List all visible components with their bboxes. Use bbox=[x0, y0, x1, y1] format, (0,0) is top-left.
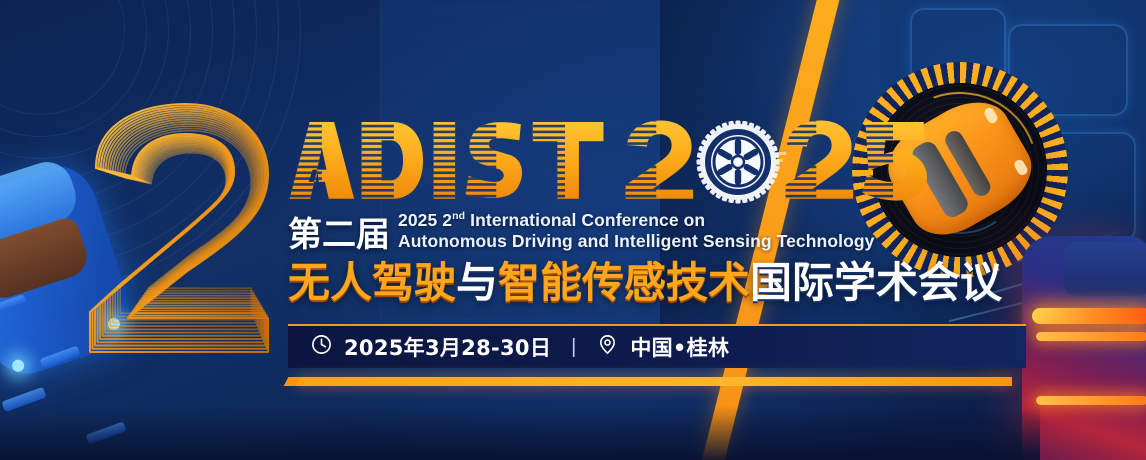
event-location: 中国•桂林 bbox=[630, 332, 729, 362]
watermark-number-2 bbox=[68, 96, 308, 361]
radar-arcs-decoration bbox=[0, 0, 320, 310]
english-title-line1: 2025 2nd International Conference on bbox=[398, 210, 875, 231]
info-separator: | bbox=[571, 336, 576, 359]
lane-dash bbox=[0, 294, 26, 315]
event-info-bar: 2025年3月28-30日 | 中国•桂林 bbox=[288, 324, 1026, 368]
orange-underline-bar bbox=[296, 377, 1012, 386]
title-block: 第二届 2025 2nd International Conference on… bbox=[288, 118, 1008, 306]
bottom-fade bbox=[0, 406, 1040, 460]
chinese-title-part3: 智能传感技术 bbox=[498, 258, 750, 307]
location-pin-icon bbox=[596, 333, 619, 361]
car-headlight-right bbox=[106, 316, 121, 331]
chinese-title: 无人驾驶与智能传感技术国际学术会议 bbox=[288, 259, 1008, 306]
edition-label: 第二届 bbox=[288, 218, 390, 252]
english-title: 2025 2nd International Conference on Aut… bbox=[398, 210, 875, 252]
lane-dash bbox=[39, 345, 80, 368]
conference-banner: 第二届 2025 2nd International Conference on… bbox=[0, 0, 1146, 460]
chinese-title-part1: 无人驾驶 bbox=[288, 258, 456, 307]
car-headlight-left bbox=[11, 358, 26, 373]
event-date: 2025年3月28-30日 bbox=[344, 332, 551, 362]
logo-wordmark bbox=[288, 118, 1008, 204]
car-roof bbox=[0, 155, 83, 252]
rear-bumper-light bbox=[1036, 396, 1146, 405]
subtitle-row: 第二届 2025 2nd International Conference on… bbox=[288, 210, 1008, 252]
car-windshield bbox=[0, 215, 92, 304]
chinese-title-part4: 国际学术会议 bbox=[750, 258, 1002, 307]
chinese-title-part2: 与 bbox=[456, 258, 498, 307]
rear-taillight-strip bbox=[1036, 332, 1146, 341]
rear-taillight-upper bbox=[1032, 308, 1146, 324]
english-title-line2: Autonomous Driving and Intelligent Sensi… bbox=[398, 231, 875, 252]
rear-car-window bbox=[1064, 242, 1146, 296]
clock-icon bbox=[310, 333, 333, 361]
